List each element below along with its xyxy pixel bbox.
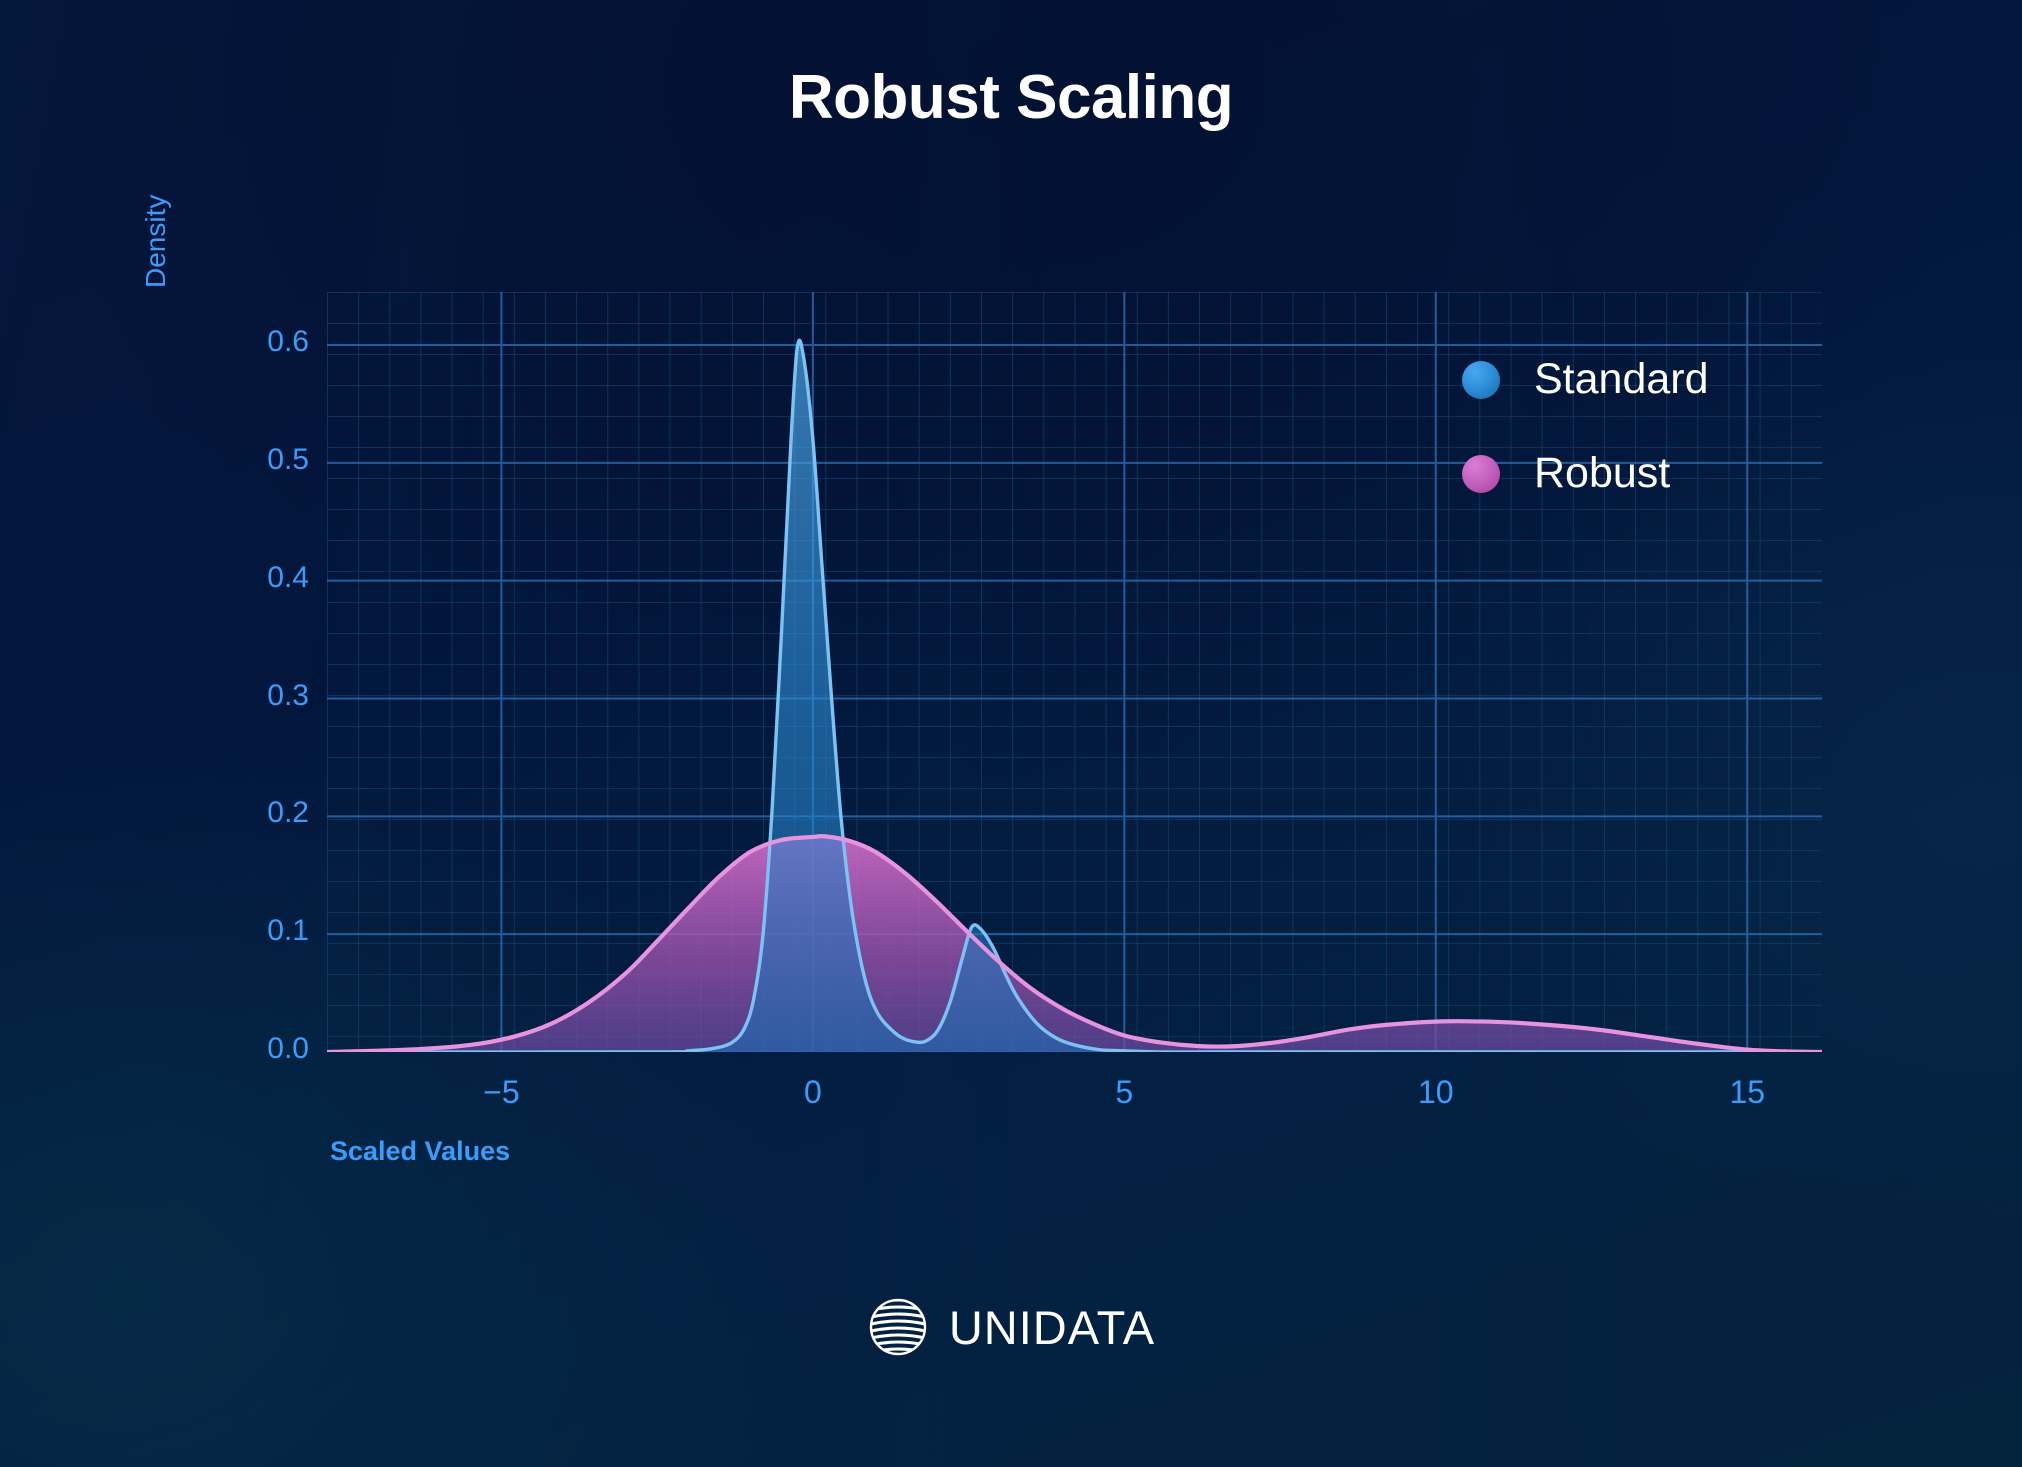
- x-tick-label: 5: [1064, 1074, 1184, 1111]
- y-tick-label: 0.3: [199, 679, 309, 713]
- brand-wordmark: UNIDATA: [949, 1300, 1155, 1355]
- circle-marker-icon: [1462, 361, 1500, 399]
- brand-logo: UNIDATA: [0, 1296, 2022, 1358]
- y-tick-label: 0.6: [199, 325, 309, 359]
- legend-label-standard: Standard: [1534, 355, 1709, 404]
- x-tick-label: 10: [1376, 1074, 1496, 1111]
- legend-item-robust[interactable]: Robust: [1462, 449, 1709, 498]
- x-tick-label: −5: [441, 1074, 561, 1111]
- page-title: Robust Scaling: [0, 62, 2022, 133]
- x-tick-label: 0: [753, 1074, 873, 1111]
- y-tick-label: 0.5: [199, 443, 309, 477]
- striped-globe-icon: [867, 1296, 929, 1358]
- y-axis-label: Density: [140, 195, 172, 288]
- circle-marker-icon: [1462, 455, 1500, 493]
- y-tick-label: 0.0: [199, 1032, 309, 1066]
- y-tick-label: 0.2: [199, 796, 309, 830]
- y-tick-label: 0.4: [199, 561, 309, 595]
- chart-legend: Standard Robust: [1462, 355, 1709, 498]
- legend-item-standard[interactable]: Standard: [1462, 355, 1709, 404]
- legend-label-robust: Robust: [1534, 449, 1670, 498]
- x-axis-label: Scaled Values: [330, 1136, 510, 1167]
- y-tick-label: 0.1: [199, 914, 309, 948]
- x-tick-label: 15: [1687, 1074, 1807, 1111]
